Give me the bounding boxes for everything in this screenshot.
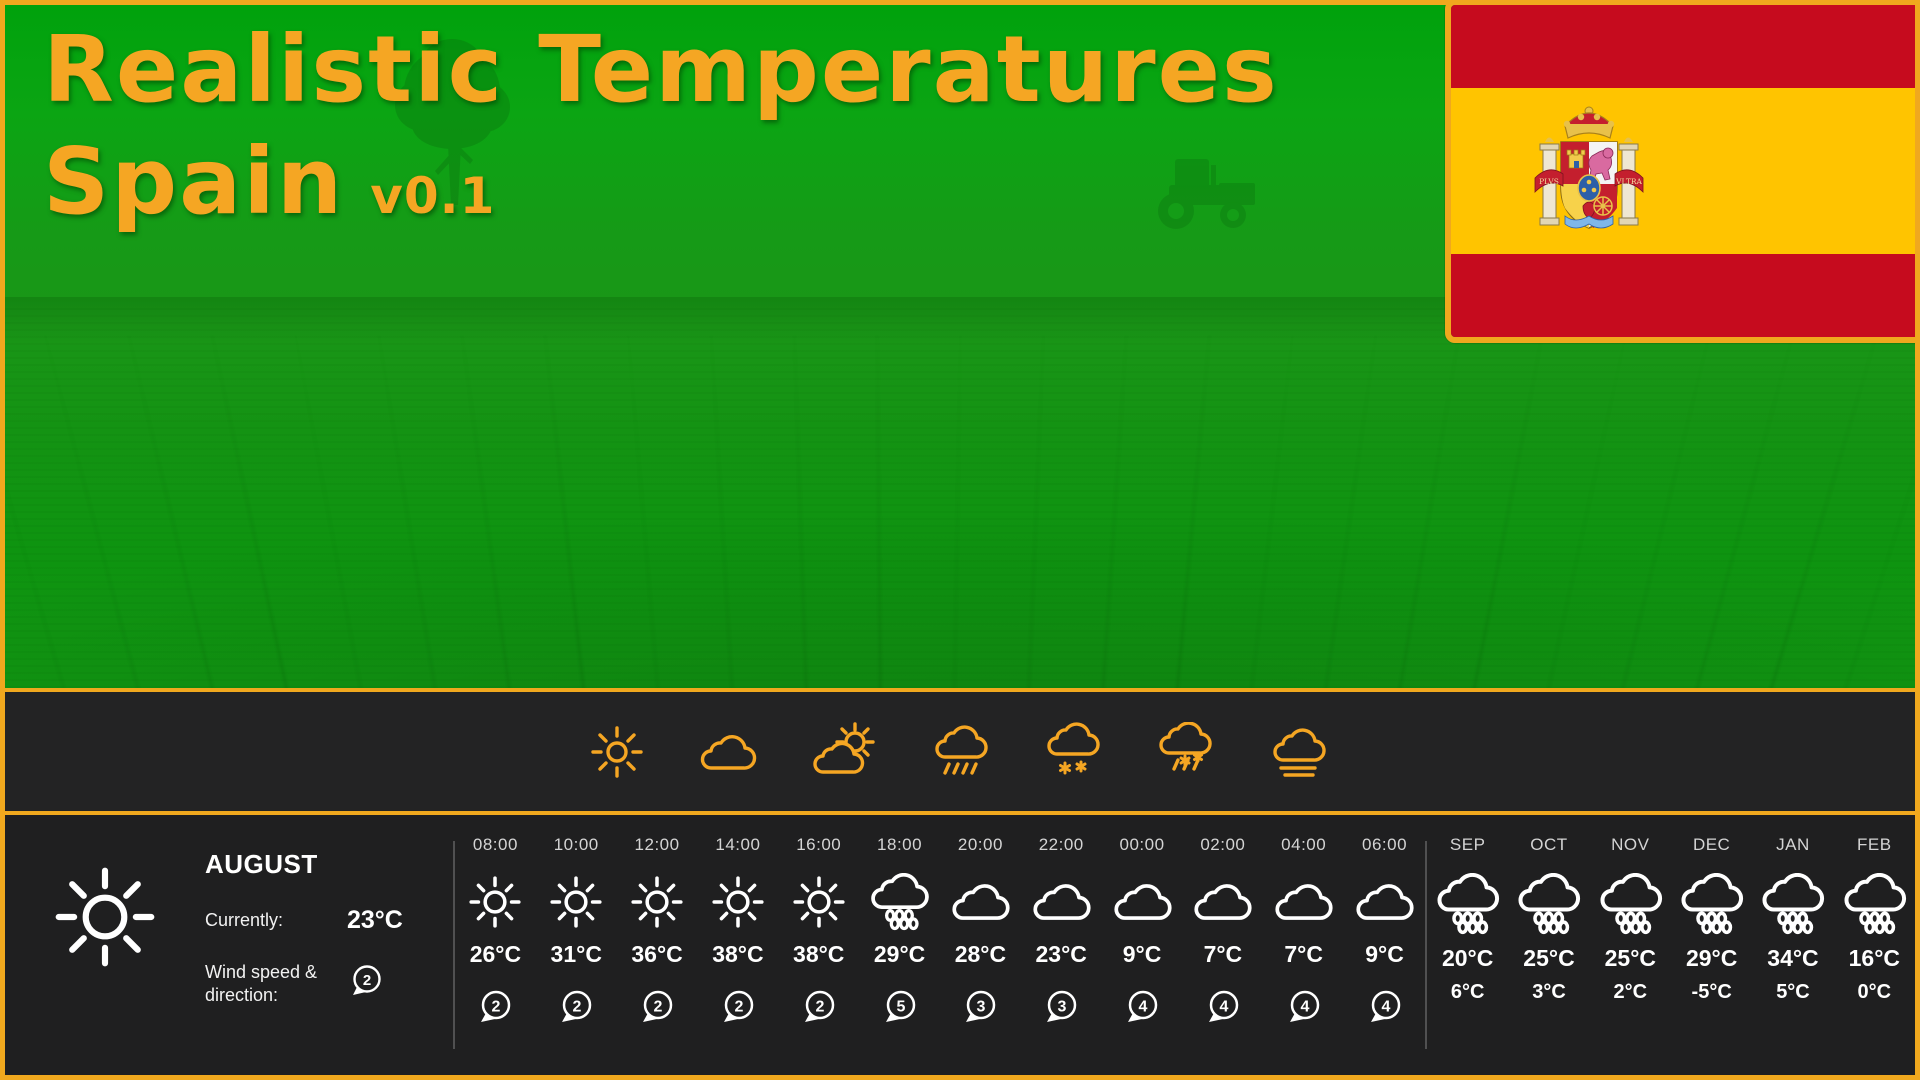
sun-icon <box>466 865 524 939</box>
monthly-low-temp: 6°C <box>1451 981 1485 1004</box>
hourly-wind: 3 <box>1041 988 1081 1033</box>
weather-icon-legend <box>5 688 1915 815</box>
mod-title-block: Realistic Temperatures Spainv0.1 <box>43 23 1279 229</box>
hourly-time-label: 00:00 <box>1120 835 1165 855</box>
monthly-column: OCT25°C3°C <box>1508 835 1589 1069</box>
monthly-month-label: DEC <box>1693 835 1730 855</box>
wind-pin-icon: 2 <box>347 962 385 1000</box>
wind-pin-icon: 4 <box>1203 988 1243 1028</box>
partly-cloudy-icon <box>811 722 879 782</box>
rain-icon <box>1514 865 1583 943</box>
current-wind-label: Wind speed & direction: <box>205 961 333 1006</box>
monthly-column: JAN34°C5°C <box>1752 835 1833 1069</box>
wind-pin-icon: 2 <box>637 988 677 1028</box>
hourly-temp: 36°C <box>631 941 682 968</box>
hourly-column: 00:009°C4 <box>1102 835 1183 1069</box>
wind-value: 3 <box>977 999 986 1016</box>
wind-pin-icon: 4 <box>1365 988 1405 1028</box>
current-month-label: AUGUST <box>205 849 403 880</box>
field-furrows <box>5 335 1915 688</box>
wind-value: 4 <box>1139 999 1148 1016</box>
wind-direction-icon: 2 <box>347 962 385 1005</box>
rain-icon <box>931 723 991 781</box>
hourly-time-label: 12:00 <box>635 835 680 855</box>
monthly-high-temp: 20°C <box>1442 945 1493 972</box>
hourly-wind: 2 <box>718 988 758 1033</box>
wind-pin-icon: 2 <box>718 988 758 1028</box>
hourly-wind: 4 <box>1365 988 1405 1033</box>
wind-pin-icon: 4 <box>1122 988 1162 1028</box>
wind-value: 2 <box>734 999 743 1016</box>
wind-value: 2 <box>654 999 663 1016</box>
current-wind-row: Wind speed & direction: 2 <box>205 961 403 1006</box>
hourly-wind: 2 <box>799 988 839 1033</box>
monthly-month-label: NOV <box>1611 835 1649 855</box>
hourly-time-label: 18:00 <box>877 835 922 855</box>
rain-icon <box>1433 865 1502 943</box>
hourly-column: 02:007°C4 <box>1182 835 1263 1069</box>
wind-value: 2 <box>573 999 582 1016</box>
hourly-wind: 2 <box>637 988 677 1033</box>
hourly-temp: 31°C <box>551 941 602 968</box>
sun-icon <box>709 865 767 939</box>
hourly-wind: 5 <box>880 988 920 1033</box>
wind-pin-icon: 4 <box>1284 988 1324 1028</box>
wind-value: 2 <box>815 999 824 1016</box>
hourly-temp: 23°C <box>1036 941 1087 968</box>
monthly-column: NOV25°C2°C <box>1590 835 1671 1069</box>
wind-pin-icon: 3 <box>1041 988 1081 1028</box>
wind-value: 2 <box>492 999 501 1016</box>
cloud-icon <box>697 728 759 776</box>
rain-icon <box>1758 865 1827 943</box>
monthly-low-temp: 2°C <box>1614 981 1648 1004</box>
monthly-column: DEC29°C-5°C <box>1671 835 1752 1069</box>
snow-icon <box>1043 722 1103 782</box>
hourly-time-label: 04:00 <box>1281 835 1326 855</box>
svg-text:VLTRA: VLTRA <box>1615 177 1642 186</box>
wind-value: 4 <box>1381 999 1390 1016</box>
fog-icon <box>1269 726 1331 778</box>
monthly-month-label: FEB <box>1857 835 1892 855</box>
hourly-time-label: 20:00 <box>958 835 1003 855</box>
hourly-time-label: 02:00 <box>1200 835 1245 855</box>
svg-text:PLVS: PLVS <box>1539 177 1559 186</box>
cloud-icon <box>1190 865 1255 939</box>
hourly-column: 16:0038°C2 <box>778 835 859 1069</box>
hourly-temp: 29°C <box>874 941 925 968</box>
title-line-2: Spainv0.1 <box>43 135 1279 229</box>
hourly-time-label: 08:00 <box>473 835 518 855</box>
monthly-high-temp: 29°C <box>1686 945 1737 972</box>
hourly-column: 08:0026°C2 <box>455 835 536 1069</box>
hourly-temp: 28°C <box>955 941 1006 968</box>
wind-value: 4 <box>1219 999 1228 1016</box>
sun-icon <box>589 724 645 780</box>
sun-icon <box>547 865 605 939</box>
cloud-icon <box>1271 865 1336 939</box>
forecast-panel: AUGUST Currently: 23°C Wind speed & dire… <box>5 819 1915 1075</box>
wind-pin-icon: 2 <box>799 988 839 1028</box>
hourly-time-label: 10:00 <box>554 835 599 855</box>
monthly-forecast: SEP20°C6°COCT25°C3°CNOV25°C2°CDEC29°C-5°… <box>1427 819 1915 1075</box>
rain-icon <box>1840 865 1909 943</box>
hourly-column: 20:0028°C3 <box>940 835 1021 1069</box>
hourly-time-label: 14:00 <box>715 835 760 855</box>
monthly-month-label: JAN <box>1776 835 1810 855</box>
version-label: v0.1 <box>370 167 495 225</box>
monthly-low-temp: 5°C <box>1776 981 1810 1004</box>
current-temp-label: Currently: <box>205 909 333 932</box>
sleet-icon <box>1155 722 1217 782</box>
hourly-temp: 7°C <box>1284 941 1323 968</box>
title-country: Spain <box>43 128 344 235</box>
monthly-column: FEB16°C0°C <box>1834 835 1915 1069</box>
current-temp-value: 23°C <box>347 906 403 935</box>
monthly-low-temp: 0°C <box>1858 981 1892 1004</box>
rain-icon <box>1677 865 1746 943</box>
hourly-forecast: 08:0026°C210:0031°C212:0036°C214:0038°C2… <box>455 819 1425 1075</box>
hourly-temp: 38°C <box>793 941 844 968</box>
flag-band-red-bottom <box>1451 254 1915 337</box>
hourly-wind: 2 <box>556 988 596 1033</box>
monthly-high-temp: 25°C <box>1605 945 1656 972</box>
wind-pin-icon: 5 <box>880 988 920 1028</box>
hourly-wind: 4 <box>1203 988 1243 1033</box>
hourly-wind: 4 <box>1284 988 1324 1033</box>
wind-pin-icon: 2 <box>475 988 515 1028</box>
sun-icon <box>628 865 686 939</box>
hourly-column: 12:0036°C2 <box>617 835 698 1069</box>
hourly-column: 04:007°C4 <box>1263 835 1344 1069</box>
wind-pin-icon: 3 <box>960 988 1000 1028</box>
hourly-time-label: 06:00 <box>1362 835 1407 855</box>
current-temp-row: Currently: 23°C <box>205 906 403 935</box>
monthly-column: SEP20°C6°C <box>1427 835 1508 1069</box>
hourly-temp: 26°C <box>470 941 521 968</box>
hourly-time-label: 22:00 <box>1039 835 1084 855</box>
sun-icon <box>790 865 848 939</box>
hourly-column: 22:0023°C3 <box>1021 835 1102 1069</box>
current-conditions: AUGUST Currently: 23°C Wind speed & dire… <box>5 819 453 1075</box>
monthly-low-temp: -5°C <box>1692 981 1732 1004</box>
hourly-wind: 4 <box>1122 988 1162 1033</box>
cloud-icon <box>1352 865 1417 939</box>
hourly-column: 18:0029°C5 <box>859 835 940 1069</box>
wind-pin-icon: 2 <box>556 988 596 1028</box>
wind-value: 2 <box>363 972 371 989</box>
monthly-high-temp: 16°C <box>1849 945 1900 972</box>
wind-value: 3 <box>1058 999 1067 1016</box>
hourly-time-label: 16:00 <box>796 835 841 855</box>
cloud-icon <box>948 865 1013 939</box>
hourly-wind: 3 <box>960 988 1000 1033</box>
hourly-temp: 38°C <box>712 941 763 968</box>
current-info: AUGUST Currently: 23°C Wind speed & dire… <box>205 837 403 1006</box>
title-line-1: Realistic Temperatures <box>43 23 1279 117</box>
monthly-high-temp: 34°C <box>1767 945 1818 972</box>
monthly-low-temp: 3°C <box>1532 981 1566 1004</box>
wind-value: 5 <box>896 999 905 1016</box>
monthly-high-temp: 25°C <box>1523 945 1574 972</box>
spain-flag: PLVS VLTRA <box>1445 5 1915 343</box>
spain-coat-of-arms-icon: PLVS VLTRA <box>1529 94 1649 244</box>
hourly-column: 10:0031°C2 <box>536 835 617 1069</box>
flag-band-red-top <box>1451 5 1915 88</box>
monthly-month-label: OCT <box>1530 835 1567 855</box>
hourly-column: 14:0038°C2 <box>697 835 778 1069</box>
sun-icon <box>51 863 159 976</box>
rain-icon <box>867 865 932 939</box>
monthly-month-label: SEP <box>1450 835 1486 855</box>
hero-banner: Realistic Temperatures Spainv0.1 <box>5 5 1915 688</box>
wind-value: 4 <box>1300 999 1309 1016</box>
current-weather-icon-wrap <box>5 837 205 976</box>
cloud-icon <box>1029 865 1094 939</box>
cloud-icon <box>1110 865 1175 939</box>
hourly-wind: 2 <box>475 988 515 1033</box>
hourly-temp: 9°C <box>1123 941 1162 968</box>
weather-mod-panel: Realistic Temperatures Spainv0.1 <box>0 0 1920 1080</box>
hourly-temp: 7°C <box>1204 941 1243 968</box>
hourly-column: 06:009°C4 <box>1344 835 1425 1069</box>
hourly-temp: 9°C <box>1365 941 1404 968</box>
rain-icon <box>1596 865 1665 943</box>
flag-band-yellow <box>1451 88 1915 254</box>
